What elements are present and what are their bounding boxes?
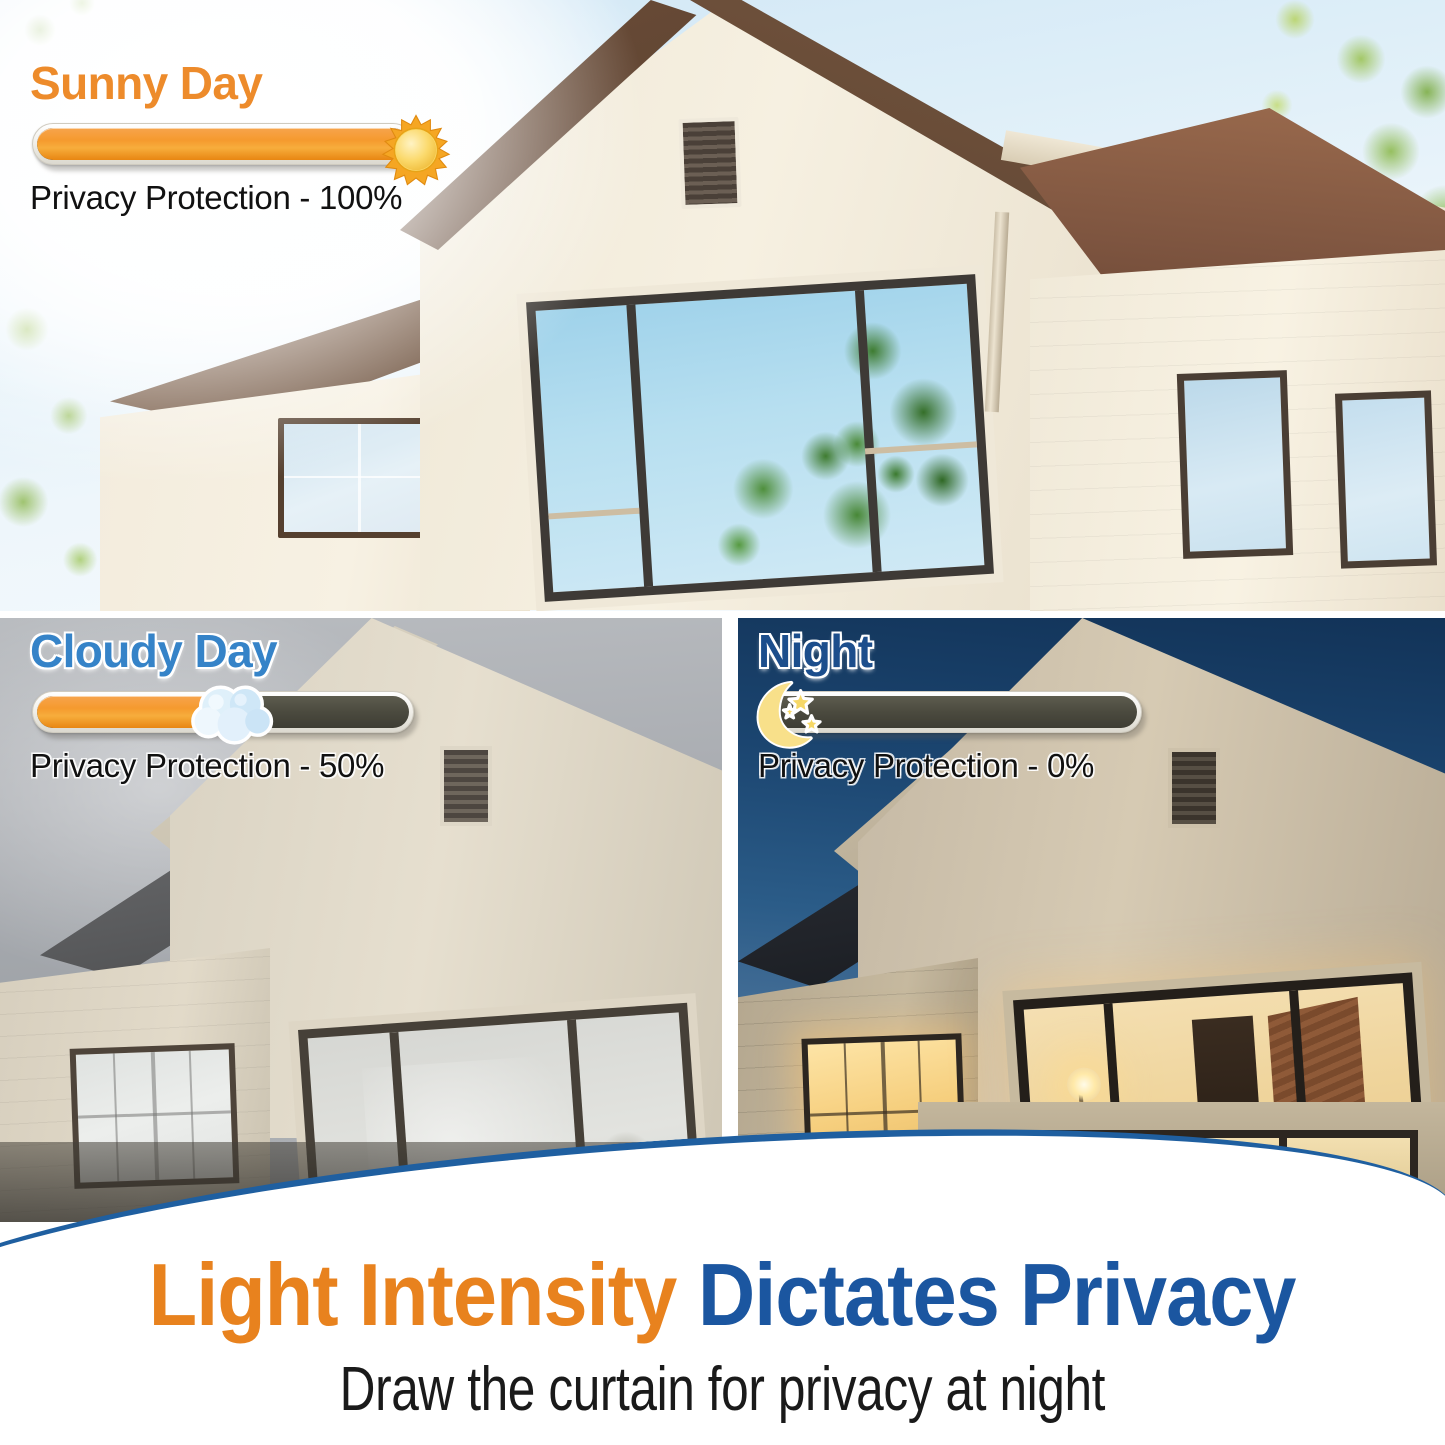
banner-subline: Draw the curtain for privacy at night: [340, 1359, 1105, 1421]
headline-part-orange: Light Intensity: [149, 1245, 677, 1344]
sunny-mirrored-window: [526, 274, 994, 602]
banner-headline: Light IntensityDictates Privacy: [149, 1251, 1296, 1339]
sunny-right-window-a: [1177, 370, 1293, 559]
sunny-right-window-b: [1335, 390, 1437, 568]
banner-text-group: Light IntensityDictates Privacy Draw the…: [0, 1145, 1445, 1445]
cloudy-protection-text: Privacy Protection - 50%: [30, 747, 430, 785]
moon-stars-icon: [746, 675, 824, 753]
bar-fill: [37, 128, 409, 160]
bottom-banner: Light IntensityDictates Privacy Draw the…: [0, 1145, 1445, 1445]
sunny-label-block: Sunny Day: [30, 60, 450, 217]
sunny-gable-vent: [678, 117, 741, 209]
bar-track: [32, 123, 414, 165]
sunny-progress-bar: [30, 117, 450, 173]
window-reflection-tree-right: [797, 289, 991, 530]
panel-divider-vertical: [722, 611, 738, 1222]
night-progress-bar: [758, 685, 1178, 741]
sunny-title: Sunny Day: [30, 60, 450, 107]
cloudy-progress-bar: [30, 685, 430, 741]
cloud-icon: [190, 676, 282, 748]
cloudy-title: Cloudy Day: [30, 628, 430, 675]
night-title: Night: [758, 628, 1178, 675]
window-rail-left: [548, 508, 639, 520]
cloudy-label-block: Cloudy Day: [30, 628, 430, 785]
sunny-left-window: [278, 418, 438, 538]
cloudy-gable-vent: [440, 746, 492, 826]
product-infographic: Sunny Day: [0, 0, 1445, 1445]
window-mullion-left: [626, 305, 653, 587]
night-label-block: Night Privacy Protection - 0%: [758, 628, 1178, 785]
bar-inner: [37, 128, 409, 160]
sun-icon: [380, 114, 452, 186]
interior-floor-lamp: [1066, 1066, 1102, 1102]
headline-part-blue: Dictates Privacy: [698, 1245, 1296, 1344]
